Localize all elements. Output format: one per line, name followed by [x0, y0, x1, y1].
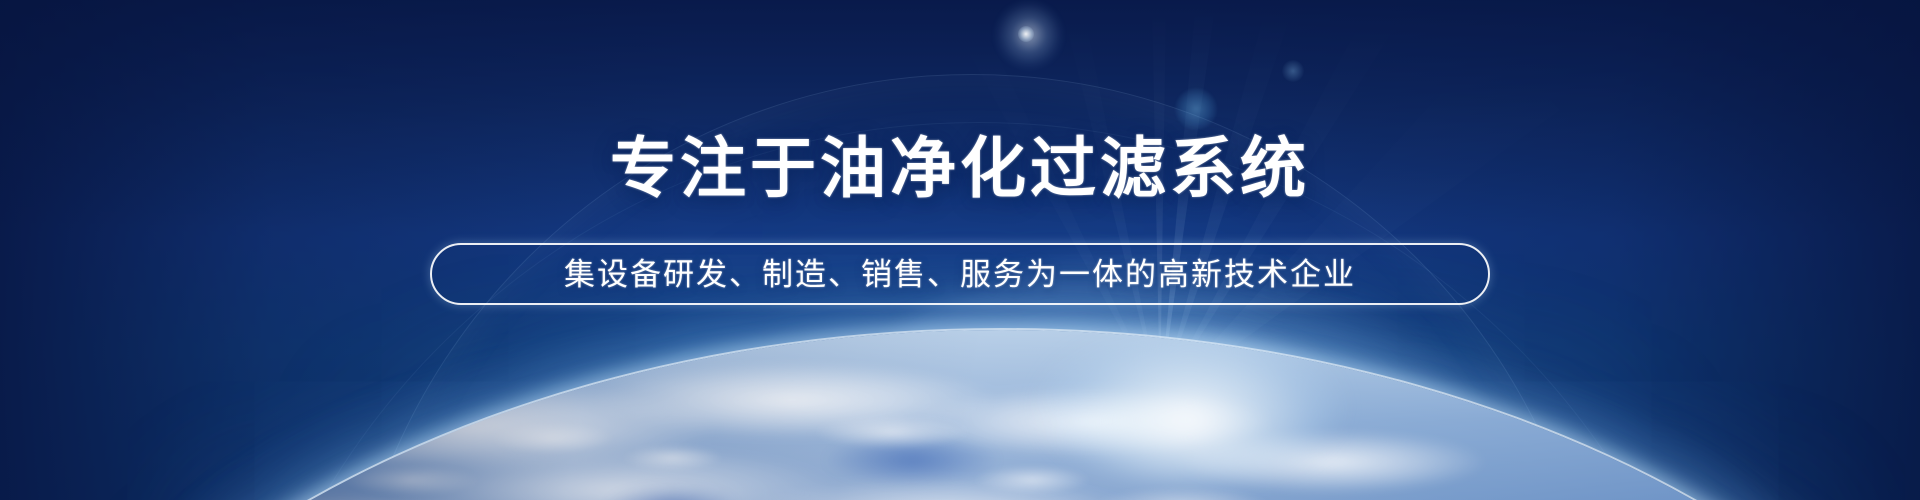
banner-headline: 专注于油净化过滤系统 — [610, 135, 1310, 201]
banner-content: 专注于油净化过滤系统 集设备研发、制造、销售、服务为一体的高新技术企业 — [0, 0, 1920, 500]
banner-subtitle-pill: 集设备研发、制造、销售、服务为一体的高新技术企业 — [430, 243, 1490, 305]
banner-subtitle-text: 集设备研发、制造、销售、服务为一体的高新技术企业 — [564, 259, 1356, 290]
hero-banner: 专注于油净化过滤系统 集设备研发、制造、销售、服务为一体的高新技术企业 — [0, 0, 1920, 500]
